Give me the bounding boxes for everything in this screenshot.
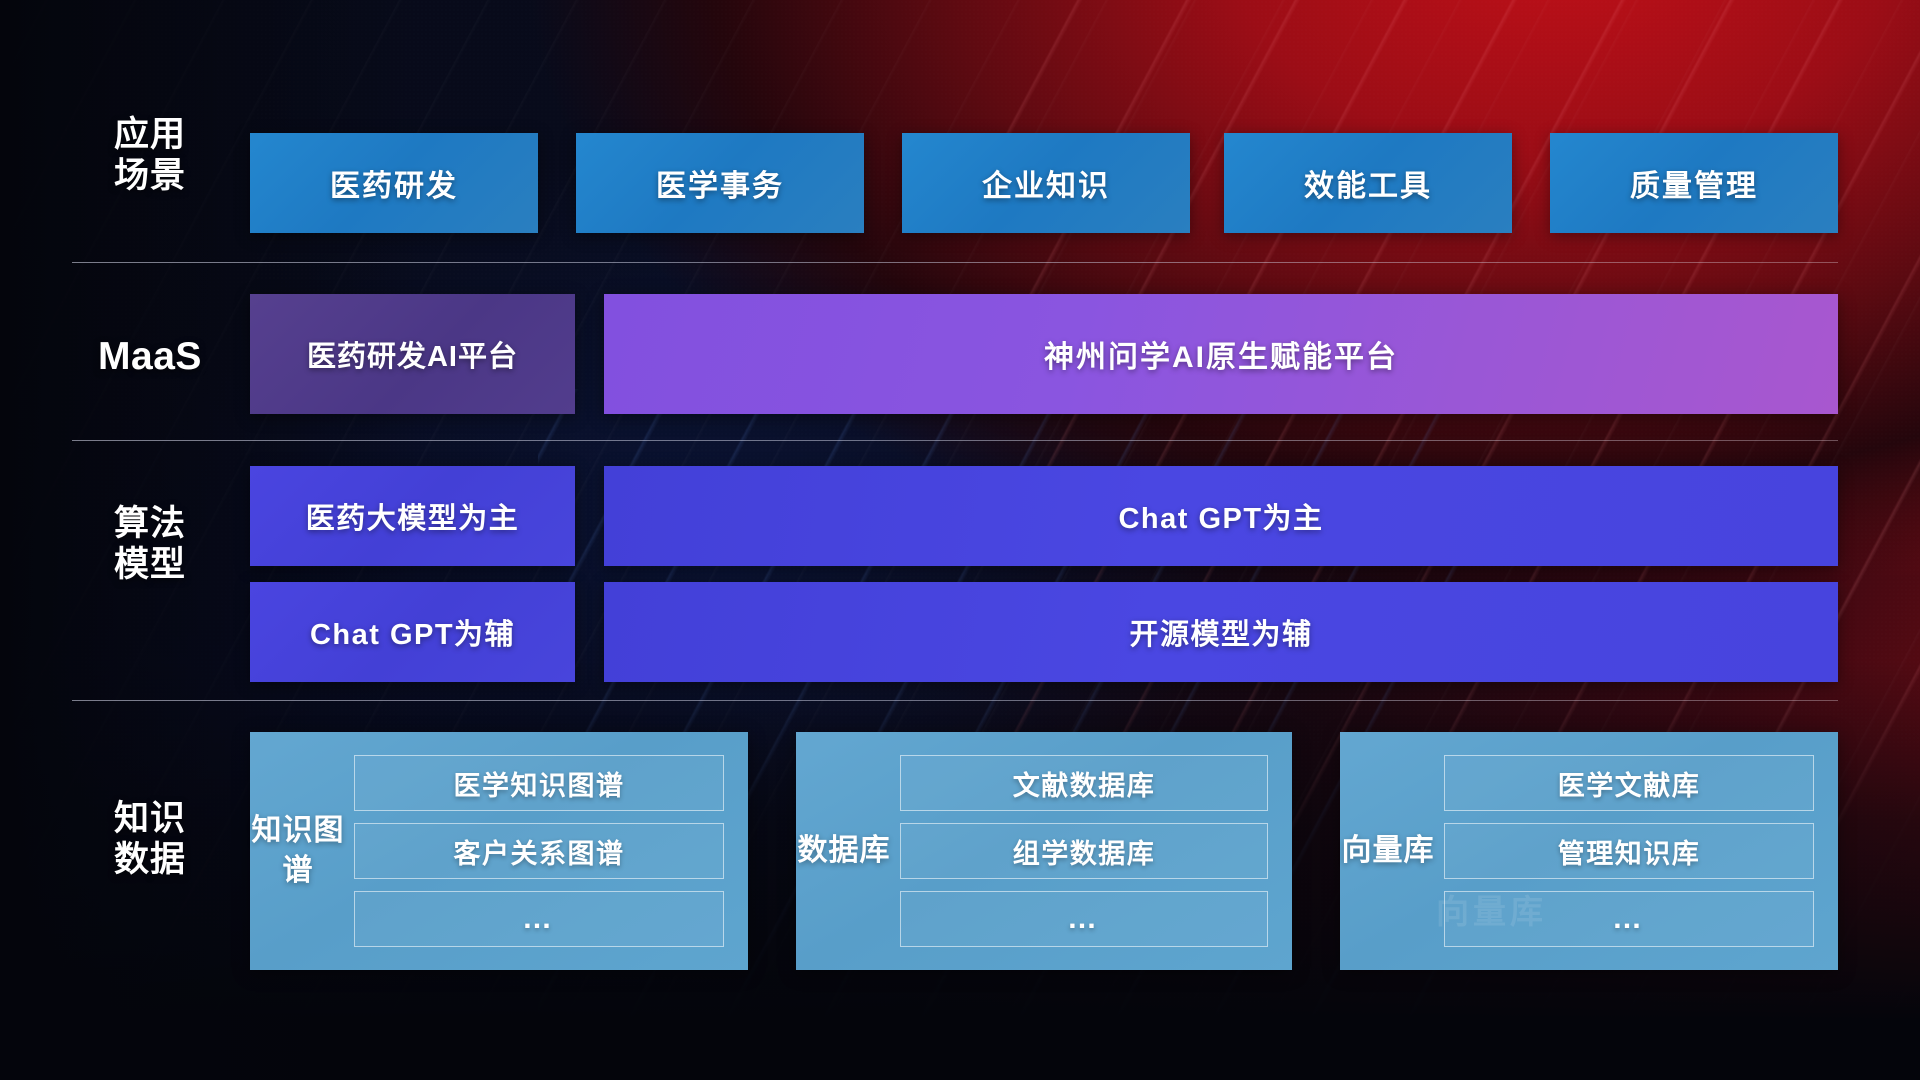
algorithm-box-opensource-secondary[interactable]: 开源模型为辅 — [604, 582, 1838, 682]
knowledge-card-side-label: 向量库 — [1340, 831, 1436, 871]
knowledge-card-database[interactable]: 数据库 文献数据库 组学数据库 … — [796, 732, 1292, 970]
app-box-label: 医药研发 — [330, 161, 458, 205]
algorithm-box-chatgpt-primary[interactable]: Chat GPT为主 — [604, 466, 1838, 566]
knowledge-item-more[interactable]: … — [354, 891, 724, 947]
row-label-maas: MaaS — [88, 334, 212, 380]
row-label-line-2: 数据 — [88, 839, 212, 880]
divider-after-application-row — [72, 262, 1838, 263]
knowledge-card-knowledge-graph[interactable]: 知识图谱 医学知识图谱 客户关系图谱 … — [250, 732, 748, 970]
app-box-efficiency-tools[interactable]: 效能工具 — [1224, 133, 1512, 233]
app-box-label: 企业知识 — [982, 161, 1110, 205]
row-label-application-scenarios: 应用 场景 — [88, 114, 212, 197]
algorithm-box-label: Chat GPT为辅 — [310, 611, 515, 653]
app-box-enterprise-knowledge[interactable]: 企业知识 — [902, 133, 1190, 233]
algorithm-box-chatgpt-secondary[interactable]: Chat GPT为辅 — [250, 582, 575, 682]
app-box-label: 质量管理 — [1630, 161, 1758, 205]
row-label-line-1: 知识 — [88, 798, 212, 839]
knowledge-item[interactable]: 文献数据库 — [900, 755, 1268, 811]
knowledge-card-vector-store[interactable]: 向量库 医学文献库 管理知识库 … — [1340, 732, 1838, 970]
row-label-algorithm-models: 算法 模型 — [88, 503, 212, 586]
knowledge-card-side-label: 数据库 — [796, 831, 892, 871]
knowledge-item[interactable]: 管理知识库 — [1444, 823, 1814, 879]
diagram-canvas: 应用 场景 医药研发 医学事务 企业知识 效能工具 质量管理 MaaS 医药研发… — [0, 0, 1920, 1080]
maas-box-pharma-ai-platform[interactable]: 医药研发AI平台 — [250, 294, 575, 414]
algorithm-box-label: 医药大模型为主 — [306, 495, 520, 537]
maas-box-label: 医药研发AI平台 — [307, 333, 518, 375]
knowledge-item[interactable]: 医学文献库 — [1444, 755, 1814, 811]
knowledge-card-item-list: 医学文献库 管理知识库 … — [1436, 755, 1838, 947]
divider-after-maas-row — [72, 440, 1838, 441]
app-box-medicine-rd[interactable]: 医药研发 — [250, 133, 538, 233]
knowledge-card-item-list: 文献数据库 组学数据库 … — [892, 755, 1292, 947]
algorithm-box-label: Chat GPT为主 — [1118, 495, 1323, 537]
row-label-line-2: 模型 — [88, 544, 212, 585]
row-label-line-1: 应用 — [88, 114, 212, 155]
row-label-line-1: 算法 — [88, 503, 212, 544]
algorithm-box-pharma-llm-primary[interactable]: 医药大模型为主 — [250, 466, 575, 566]
knowledge-item[interactable]: 组学数据库 — [900, 823, 1268, 879]
row-label-knowledge-data: 知识 数据 — [88, 798, 212, 881]
knowledge-card-side-label: 知识图谱 — [250, 811, 346, 891]
knowledge-item-more[interactable]: … — [1444, 891, 1814, 947]
knowledge-item[interactable]: 医学知识图谱 — [354, 755, 724, 811]
app-box-quality-management[interactable]: 质量管理 — [1550, 133, 1838, 233]
algorithm-box-label: 开源模型为辅 — [1129, 611, 1312, 653]
app-box-label: 医学事务 — [656, 161, 784, 205]
knowledge-item-more[interactable]: … — [900, 891, 1268, 947]
knowledge-card-item-list: 医学知识图谱 客户关系图谱 … — [346, 755, 748, 947]
architecture-diagram: 应用 场景 医药研发 医学事务 企业知识 效能工具 质量管理 MaaS 医药研发… — [0, 0, 1920, 1080]
row-label-line-2: 场景 — [88, 155, 212, 196]
app-box-label: 效能工具 — [1304, 161, 1432, 205]
divider-after-algorithm-row — [72, 700, 1838, 701]
maas-box-shenzhou-wenxue-platform[interactable]: 神州问学AI原生赋能平台 — [604, 294, 1838, 414]
app-box-medical-affairs[interactable]: 医学事务 — [576, 133, 864, 233]
maas-box-label: 神州问学AI原生赋能平台 — [1044, 332, 1398, 376]
knowledge-item[interactable]: 客户关系图谱 — [354, 823, 724, 879]
